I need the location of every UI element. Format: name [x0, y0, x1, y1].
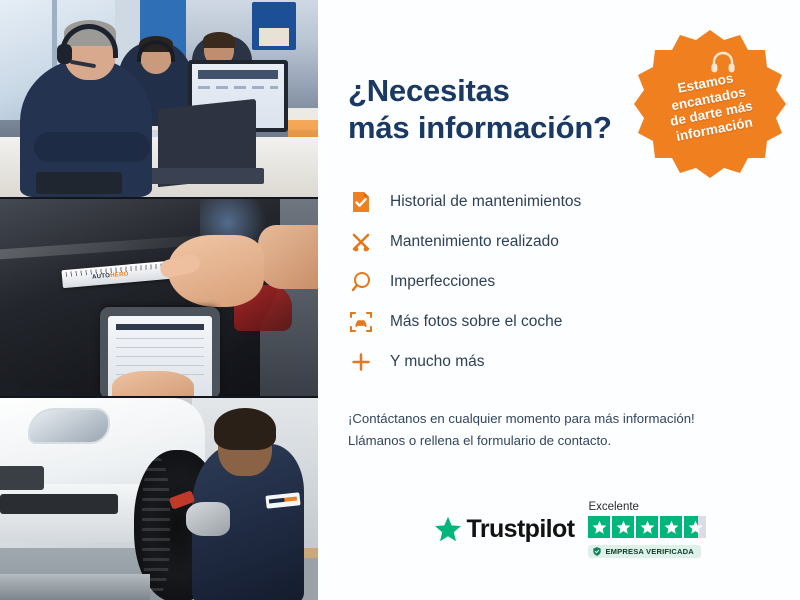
call-center-agents-photo — [0, 0, 318, 197]
headline-line-1: ¿Necesitas — [348, 73, 510, 108]
star-partial-5 — [684, 516, 706, 538]
tools-cross-icon — [348, 229, 374, 255]
car-photo-frame-icon — [348, 309, 374, 335]
feature-label: Y mucho más — [390, 353, 484, 371]
star-filled-3 — [636, 516, 658, 538]
star-filled-1 — [588, 516, 610, 538]
trustpilot-widget[interactable]: Trustpilot Excelente — [318, 501, 800, 558]
agent-three-hair — [203, 32, 235, 48]
verified-company-badge: EMPRESA VERIFICADA — [588, 545, 701, 558]
document-check-icon — [348, 189, 374, 215]
garage-scene — [0, 398, 318, 600]
autohero-ruler-logo: AUTOHERO — [92, 271, 129, 280]
vehicle-inspection-photo: AUTOHERO — [0, 197, 318, 396]
media-column: AUTOHERO — [0, 0, 318, 600]
feature-item-imperfections: Imperfecciones — [348, 262, 770, 302]
contact-text: ¡Contáctanos en cualquier momento para m… — [348, 408, 770, 451]
mechanic-glove — [186, 502, 230, 536]
trustpilot-brand-name: Trustpilot — [467, 515, 575, 544]
car-headlight — [28, 408, 110, 444]
content-panel: ¿Necesitas más información? Estamos enca… — [318, 0, 800, 600]
car-upper-grille — [0, 466, 44, 490]
feature-item-more-photos: Más fotos sobre el coche — [348, 302, 770, 342]
desk-tablet — [36, 172, 122, 194]
star-filled-4 — [660, 516, 682, 538]
support-badge: Estamos encantados de darte más informac… — [634, 28, 786, 180]
mechanic-wheel-photo — [0, 396, 318, 600]
feature-item-maintenance-done: Mantenimiento realizado — [348, 222, 770, 262]
laptop-base — [146, 168, 264, 184]
feature-item-maintenance-history: Historial de mantenimientos — [348, 182, 770, 222]
shield-check-icon — [593, 547, 601, 556]
magnifier-icon — [348, 269, 374, 295]
trustpilot-logo[interactable]: Trustpilot — [434, 515, 575, 544]
feature-label: Historial de mantenimientos — [390, 193, 581, 211]
trustpilot-star-rating — [588, 516, 706, 538]
feature-list: Historial de mantenimientos M — [348, 182, 770, 382]
trustpilot-star-icon — [434, 516, 462, 543]
feature-label: Imperfecciones — [390, 273, 495, 291]
inspector-arm — [258, 225, 318, 289]
mechanic-hair — [214, 408, 276, 450]
agent-one-arm — [34, 132, 150, 162]
star-filled-2 — [612, 516, 634, 538]
inspector-hand-lower — [112, 371, 194, 396]
feature-item-much-more: Y mucho más — [348, 342, 770, 382]
feature-label: Más fotos sobre el coche — [390, 313, 562, 331]
trustpilot-rating-label: Excelente — [588, 501, 639, 513]
contact-line-1: ¡Contáctanos en cualquier momento para m… — [348, 411, 695, 426]
information-promo-card: AUTOHERO — [0, 0, 800, 600]
feature-label: Mantenimiento realizado — [390, 233, 559, 251]
car-lift-platform — [0, 574, 150, 600]
plus-icon — [348, 349, 374, 375]
trustpilot-rating-block: Excelente — [588, 501, 706, 558]
car-lower-grille — [0, 494, 118, 514]
verified-company-label: EMPRESA VERIFICADA — [605, 547, 694, 556]
wall-poster — [252, 2, 296, 50]
inspection-scene: AUTOHERO — [0, 199, 318, 396]
contact-line-2: Llámanos o rellena el formulario de cont… — [348, 433, 611, 448]
call-center-scene — [0, 0, 318, 197]
